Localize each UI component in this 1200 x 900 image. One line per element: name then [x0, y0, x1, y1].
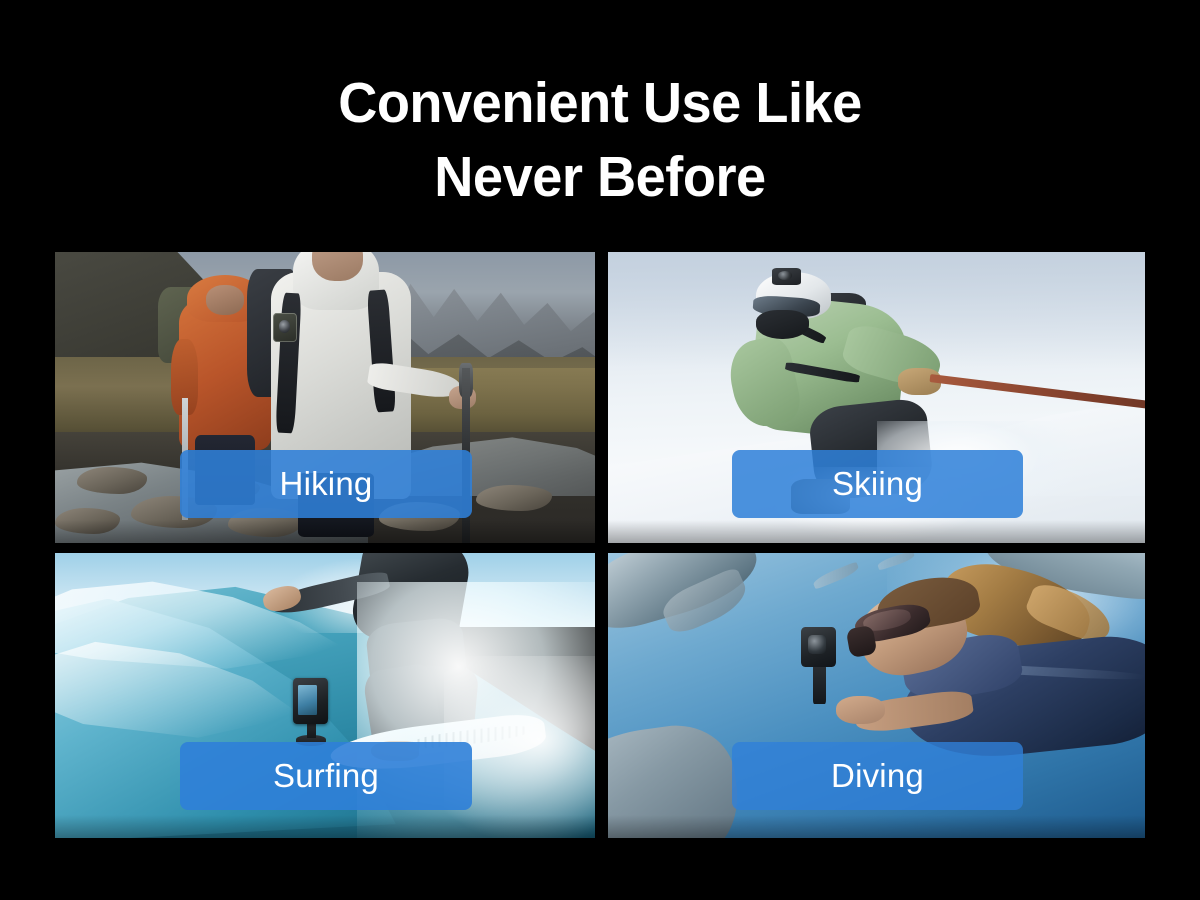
- gallery-card-hiking[interactable]: Hiking: [55, 252, 595, 543]
- gallery-card-surfing[interactable]: Surfing: [55, 553, 595, 838]
- camera-lens-icon: [808, 635, 826, 655]
- page-title-line-1: Convenient Use Like: [338, 71, 862, 135]
- page-title: Convenient Use LikeNever Before: [30, 66, 1170, 214]
- gallery-label-text: Skiing: [832, 465, 923, 503]
- orange-hiker-face: [206, 285, 244, 314]
- camera-screen-icon: [298, 685, 317, 715]
- gallery-card-skiing[interactable]: Skiing: [608, 252, 1145, 543]
- photo-bottom-fade: [608, 520, 1145, 543]
- diver-hand: [836, 696, 884, 725]
- rock-icon: [77, 467, 147, 493]
- gallery-label-hiking[interactable]: Hiking: [180, 450, 472, 518]
- rock-icon: [476, 485, 552, 511]
- camera-grip-icon: [813, 664, 826, 704]
- photo-bottom-fade: [55, 520, 595, 543]
- gallery-card-diving[interactable]: Diving: [608, 553, 1145, 838]
- gallery-label-skiing[interactable]: Skiing: [732, 450, 1023, 518]
- activity-gallery: Hiking: [55, 252, 1145, 838]
- gallery-label-text: Diving: [831, 757, 924, 795]
- photo-bottom-fade: [55, 815, 595, 838]
- gallery-label-diving[interactable]: Diving: [732, 742, 1023, 810]
- photo-bottom-fade: [608, 815, 1145, 838]
- gallery-label-text: Hiking: [280, 465, 373, 503]
- camera-lens-icon: [778, 271, 792, 280]
- page-title-line-2: Never Before: [434, 145, 765, 209]
- gallery-label-surfing[interactable]: Surfing: [180, 742, 472, 810]
- face-mask-icon: [756, 310, 810, 339]
- camera-lens-icon: [279, 320, 291, 333]
- snorkel-mouthpiece-icon: [845, 625, 876, 658]
- gallery-label-text: Surfing: [273, 757, 379, 795]
- slide-root: Convenient Use LikeNever Before: [0, 0, 1200, 900]
